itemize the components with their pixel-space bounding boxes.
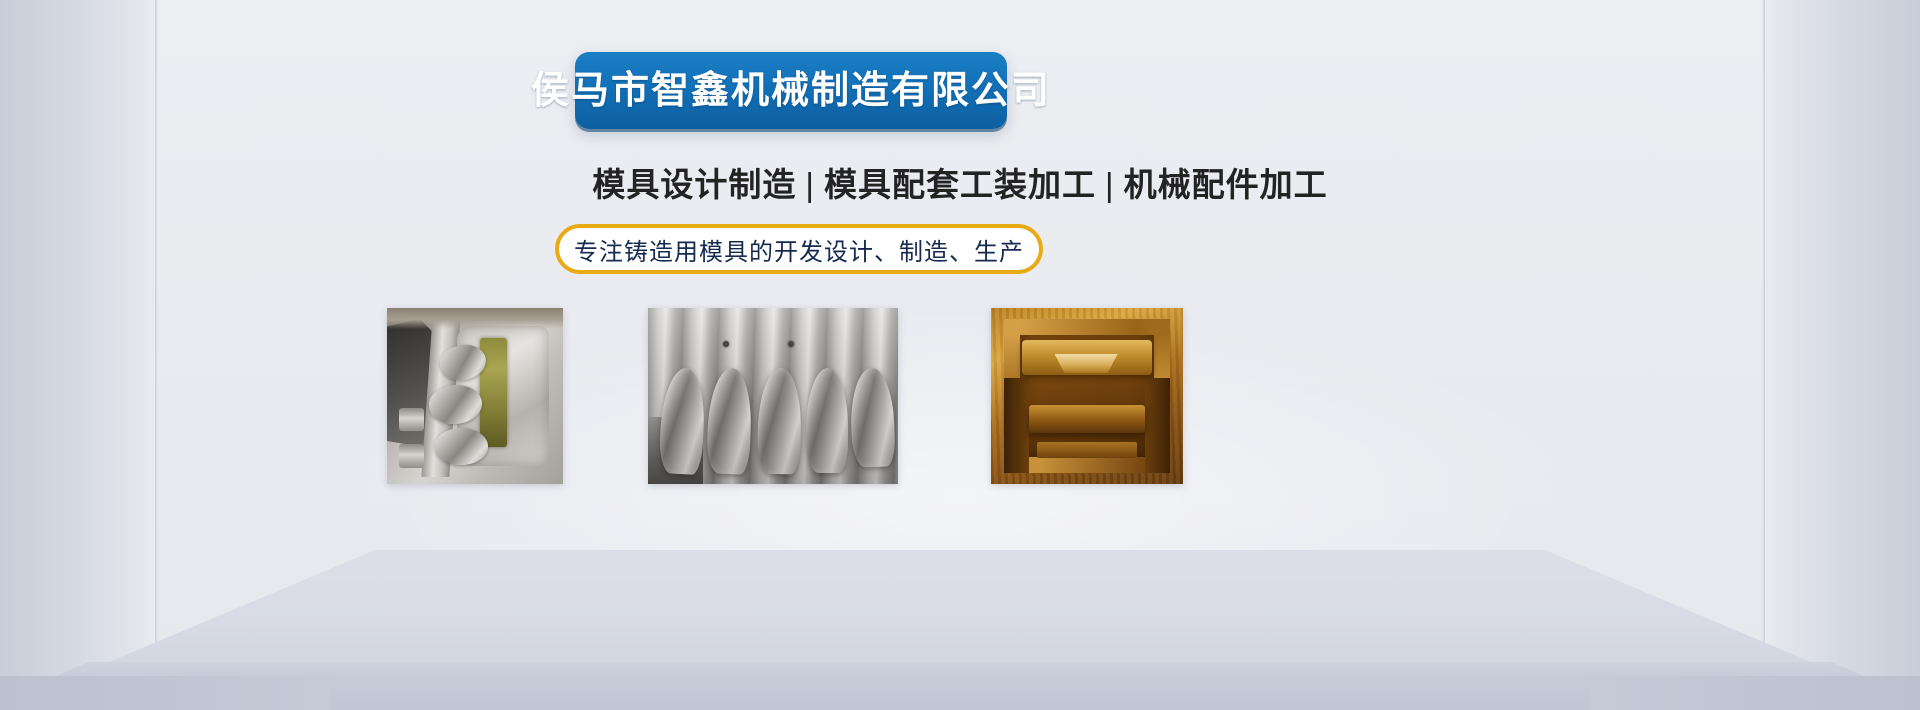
company-name-text: 侯马市智鑫机械制造有限公司 (531, 72, 1051, 110)
service-item-2: 模具配套工装加工 (824, 166, 1096, 203)
photo-3-left-shadow (1004, 378, 1029, 473)
tagline-text: 专注铸造用模具的开发设计、制造、生产 (574, 232, 1024, 267)
subtitle-separator-1: | (805, 166, 815, 203)
photo-1-stub-2 (399, 444, 424, 469)
subtitle-separator-2: | (1105, 166, 1115, 203)
service-item-1: 模具设计制造 (592, 166, 796, 203)
product-photo-1 (387, 308, 563, 484)
photo-3-rail (1029, 405, 1144, 433)
tagline-pill: 专注铸造用模具的开发设计、制造、生产 (555, 224, 1043, 274)
photo-3-lower-bar (1037, 442, 1137, 458)
photo-1-stub-1 (399, 408, 424, 431)
service-item-3: 机械配件加工 (1124, 166, 1328, 203)
tagline-pill-inner: 专注铸造用模具的开发设计、制造、生产 (559, 228, 1039, 270)
photo-3-notch (1054, 354, 1117, 373)
photo-1-top-edge (387, 308, 563, 329)
photo-2-shading (648, 308, 898, 484)
product-photo-2 (648, 308, 898, 484)
company-name-badge: 侯马市智鑫机械制造有限公司 (575, 52, 1007, 129)
product-photo-3 (991, 308, 1183, 484)
banner-content: 侯马市智鑫机械制造有限公司 模具设计制造|模具配套工装加工|机械配件加工 专注铸… (0, 0, 1920, 710)
photo-3-right-shadow (1145, 378, 1170, 473)
services-subtitle: 模具设计制造|模具配套工装加工|机械配件加工 (0, 158, 1920, 206)
